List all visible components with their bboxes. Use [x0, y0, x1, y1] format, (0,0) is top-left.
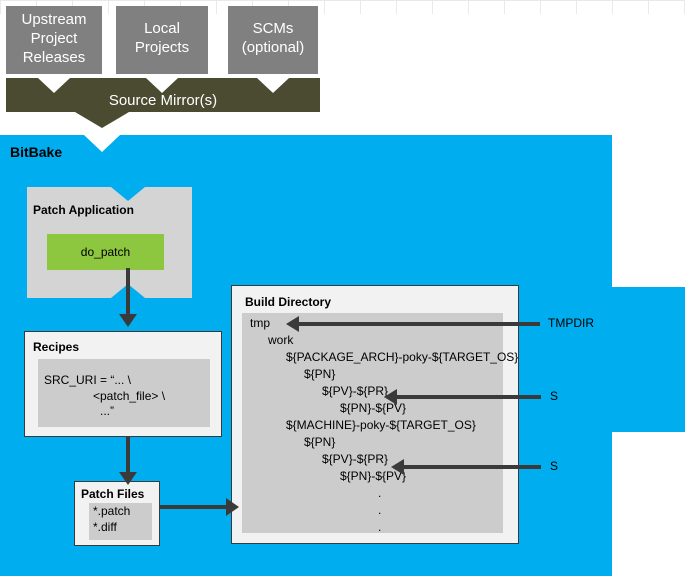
build-directory-tree-line: ${PN}-${PV}: [340, 468, 518, 485]
background-gridlines: [0, 0, 685, 14]
recipes-title: Recipes: [33, 340, 79, 354]
arrow-s-upper-head-icon: [384, 389, 397, 405]
mirror-down-point-icon: [75, 112, 129, 128]
build-directory-tree-line: ${PN}: [304, 434, 518, 451]
build-directory-tree-line: ${MACHINE}-poky-${TARGET_OS}: [286, 417, 518, 434]
source-box-label: Upstream Project Releases: [21, 10, 86, 67]
source-box-label: Local Projects: [135, 19, 189, 57]
arrow-patch-files-to-build-dir-line: [160, 505, 228, 509]
mirror-notch-icon-center: [146, 78, 178, 93]
build-directory-tree-line: .: [378, 485, 518, 502]
build-directory-tree-line: ${PACKAGE_ARCH}-poky-${TARGET_OS}: [286, 349, 518, 366]
diagram-canvas: Upstream Project Releases Local Projects…: [0, 0, 685, 576]
label-s-upper: S: [550, 389, 558, 403]
bitbake-top-notch-icon: [84, 135, 120, 152]
build-directory-tree-line: ${PN}: [304, 366, 518, 383]
patch-files-title: Patch Files: [81, 487, 144, 501]
label-s-lower: S: [550, 459, 558, 473]
bitbake-label: BitBake: [10, 144, 62, 160]
arrow-do-patch-to-recipes-line: [126, 268, 130, 316]
mirror-notch-icon-left: [38, 78, 70, 93]
build-directory-tree-line: .: [378, 502, 518, 519]
source-mirror-label: Source Mirror(s): [6, 92, 320, 109]
arrow-tmpdir-line: [298, 322, 540, 326]
arrow-recipes-to-patch-files-line: [126, 437, 130, 475]
build-directory-tree-line: ${PN}-${PV}: [340, 400, 518, 417]
patch-files-item-1: *.patch: [93, 503, 130, 519]
arrow-recipes-to-patch-files-head-icon: [119, 472, 137, 485]
recipes-code-line-3: ...”: [100, 403, 114, 419]
recipes-code-line-1: SRC_URI = “... \: [44, 372, 131, 388]
source-box-label: SCMs (optional): [242, 19, 305, 57]
source-box-upstream-project-releases: Upstream Project Releases: [6, 6, 102, 74]
arrow-tmpdir-head-icon: [286, 316, 299, 332]
source-box-local-projects: Local Projects: [116, 6, 208, 74]
mirror-notch-icon-right: [257, 78, 289, 93]
build-directory-tree-line: .: [378, 519, 518, 536]
arrow-s-lower-line: [403, 465, 541, 469]
label-tmpdir: TMPDIR: [548, 316, 594, 330]
arrow-patch-files-to-build-dir-head-icon: [226, 498, 239, 516]
build-directory-tree: tmpwork${PACKAGE_ARCH}-poky-${TARGET_OS}…: [250, 315, 518, 536]
recipes-code-line-2: <patch_file> \: [93, 388, 165, 404]
arrow-s-upper-line: [396, 395, 541, 399]
build-directory-tree-line: work: [268, 332, 518, 349]
arrow-s-lower-head-icon: [391, 459, 404, 475]
source-box-scms-optional: SCMs (optional): [228, 6, 318, 74]
patch-files-item-2: *.diff: [93, 519, 117, 535]
do-patch-task: do_patch: [47, 234, 164, 270]
arrow-do-patch-to-recipes-head-icon: [119, 314, 137, 327]
build-directory-title: Build Directory: [245, 295, 331, 309]
patch-application-title: Patch Application: [33, 203, 134, 217]
